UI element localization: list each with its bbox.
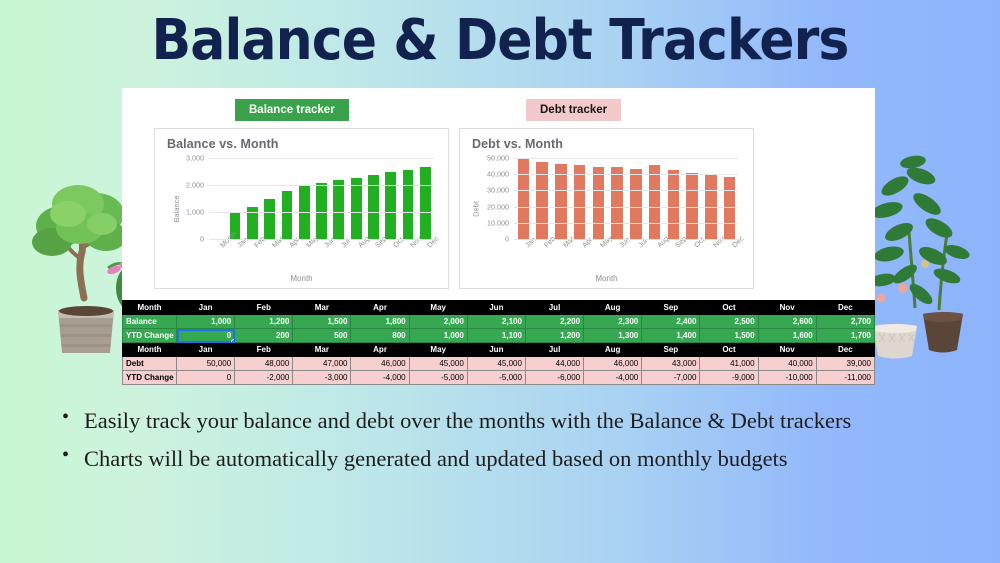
table-cell[interactable]: -4,000 [584, 371, 642, 385]
table-cell[interactable]: 500 [293, 329, 351, 343]
potted-plants-image [869, 148, 994, 360]
table-row[interactable]: MonthJanFebMarAprMayJunJulAugSepOctNovDe… [123, 343, 875, 357]
bar-slot [664, 159, 683, 239]
table-cell[interactable]: Apr [351, 343, 409, 357]
table-cell[interactable]: 800 [351, 329, 409, 343]
bar-slot [570, 159, 589, 239]
balance-bars [209, 159, 434, 239]
table-cell[interactable]: Aug [584, 343, 642, 357]
y-tick-label: 50,000 [487, 154, 509, 163]
bar-slot [226, 159, 243, 239]
table-cell[interactable]: Jul [525, 343, 583, 357]
x-label-slot: Jul [330, 240, 347, 270]
bar [420, 167, 431, 239]
table-cell[interactable]: 2,000 [409, 315, 467, 329]
table-cell[interactable]: 1,400 [642, 329, 700, 343]
table-cell[interactable]: -9,000 [700, 371, 758, 385]
bar-slot [645, 159, 664, 239]
table-cell[interactable]: -6,000 [525, 371, 583, 385]
gridline: 0 [514, 239, 739, 240]
bar [518, 159, 530, 239]
table-cell[interactable]: Sep [642, 343, 700, 357]
gridline: 50,000 [514, 158, 739, 159]
debt-x-tick-labels: JanFebMarAprMayJunJulAugSepOctNovDec [514, 240, 739, 270]
y-tick-label: 2,000 [186, 181, 204, 190]
table-cell[interactable]: 1,800 [351, 315, 409, 329]
bar [668, 170, 680, 239]
row-label-cell[interactable]: Balance [123, 315, 177, 329]
bar-slot [244, 159, 261, 239]
bar [630, 169, 642, 239]
bar-slot [533, 159, 552, 239]
table-cell[interactable]: Apr [351, 301, 409, 315]
table-cell[interactable]: May [409, 343, 467, 357]
table-cell[interactable]: 200 [235, 329, 293, 343]
table-cell[interactable]: 1,100 [467, 329, 525, 343]
x-label-slot: Dec [720, 240, 739, 270]
table-cell[interactable]: 1,700 [816, 329, 874, 343]
x-label-slot: Feb [244, 240, 261, 270]
table-cell[interactable]: Feb [235, 301, 293, 315]
bar [593, 167, 605, 239]
bar-slot [261, 159, 278, 239]
gridline: 3,000 [209, 158, 434, 159]
table-cell[interactable]: Feb [235, 343, 293, 357]
badge-balance-tracker: Balance tracker [235, 99, 349, 121]
table-cell[interactable]: Nov [758, 343, 816, 357]
bar-slot [278, 159, 295, 239]
bar-slot [348, 159, 365, 239]
bar-slot [209, 159, 226, 239]
gridline: 20,000 [514, 207, 739, 208]
x-label-slot: Nov [399, 240, 416, 270]
table-cell[interactable]: 2,400 [642, 315, 700, 329]
bar [264, 199, 275, 239]
table-cell[interactable]: 2,600 [758, 315, 816, 329]
table-cell[interactable]: 1,600 [758, 329, 816, 343]
table-cell[interactable]: 46,000 [351, 357, 409, 371]
badge-debt-tracker: Debt tracker [526, 99, 621, 121]
table-cell[interactable]: Dec [816, 301, 874, 315]
x-label-slot: May [296, 240, 313, 270]
bar [611, 167, 623, 239]
table-cell[interactable]: 2,700 [816, 315, 874, 329]
table-cell[interactable]: -5,000 [409, 371, 467, 385]
x-label-slot: Jun [313, 240, 330, 270]
table-cell[interactable]: -2,000 [235, 371, 293, 385]
y-tick-label: 40,000 [487, 170, 509, 179]
gridline: 0 [209, 239, 434, 240]
x-label-slot: Oct [382, 240, 399, 270]
x-label-slot: Sep [664, 240, 683, 270]
y-tick-label: 20,000 [487, 202, 509, 211]
table-cell[interactable]: Jul [525, 301, 583, 315]
table-cell[interactable]: 0 [177, 371, 235, 385]
bar-slot [417, 159, 434, 239]
bar-slot [608, 159, 627, 239]
table-cell[interactable]: 1,200 [525, 329, 583, 343]
table-cell[interactable]: Jun [467, 343, 525, 357]
x-label-slot: Aug [645, 240, 664, 270]
gridline: 10,000 [514, 223, 739, 224]
tracker-data-table[interactable]: MonthJanFebMarAprMayJunJulAugSepOctNovDe… [122, 300, 875, 385]
y-tick-label: 30,000 [487, 186, 509, 195]
selection-handle-icon[interactable] [231, 339, 235, 343]
table-cell[interactable]: -3,000 [293, 371, 351, 385]
bar [403, 170, 414, 239]
table-cell[interactable]: 50,000 [177, 357, 235, 371]
balance-x-tick-labels: MonthJanFebMarAprMayJunJulAugSepOctNovDe… [209, 240, 434, 270]
table-cell[interactable]: 47,000 [293, 357, 351, 371]
table-row[interactable]: Debt50,00048,00047,00046,00045,00045,000… [123, 357, 875, 371]
bar [316, 183, 327, 239]
table-cell[interactable]: -10,000 [758, 371, 816, 385]
list-item: Charts will be automatically generated a… [58, 440, 948, 478]
bar-slot [702, 159, 721, 239]
gridline: 40,000 [514, 174, 739, 175]
table-cell[interactable]: 40,000 [758, 357, 816, 371]
table-cell[interactable]: 45,000 [467, 357, 525, 371]
x-label-slot: Nov [702, 240, 721, 270]
bar [574, 165, 586, 239]
gridline: 2,000 [209, 185, 434, 186]
table-cell[interactable]: 1,000 [177, 315, 235, 329]
table-cell[interactable]: 41,000 [700, 357, 758, 371]
table-cell[interactable]: Nov [758, 301, 816, 315]
bar-slot [589, 159, 608, 239]
x-label-slot: Jan [226, 240, 243, 270]
table-cell[interactable]: 2,300 [584, 315, 642, 329]
bar-slot [330, 159, 347, 239]
x-label-slot: Aug [348, 240, 365, 270]
row-label-cell[interactable]: Month [123, 343, 177, 357]
table-cell[interactable]: Jan [177, 301, 235, 315]
debt-chart-title: Debt vs. Month [472, 137, 563, 151]
x-label-slot: May [589, 240, 608, 270]
bar-slot [313, 159, 330, 239]
table-row[interactable]: YTD Change0-2,000-3,000-4,000-5,000-5,00… [123, 371, 875, 385]
table-cell[interactable]: 1,200 [235, 315, 293, 329]
table-cell[interactable]: 2,500 [700, 315, 758, 329]
table-cell[interactable]: 45,000 [409, 357, 467, 371]
bar-slot [514, 159, 533, 239]
bar [333, 180, 344, 239]
x-label-slot: Mar [552, 240, 571, 270]
debt-chart-ylabel: Debt [471, 201, 480, 217]
table-cell[interactable]: Oct [700, 343, 758, 357]
x-label-slot: Mar [261, 240, 278, 270]
x-label-slot: Apr [570, 240, 589, 270]
table-cell[interactable]: Aug [584, 301, 642, 315]
bar [385, 172, 396, 239]
table-cell[interactable]: 1,500 [700, 329, 758, 343]
table-cell[interactable]: Sep [642, 301, 700, 315]
bar-slot [365, 159, 382, 239]
x-label-slot: Month [209, 240, 226, 270]
bar-slot [552, 159, 571, 239]
bar [649, 165, 661, 239]
table-cell[interactable]: -5,000 [467, 371, 525, 385]
selected-cell[interactable]: 0 [177, 329, 235, 343]
table-cell[interactable]: 43,000 [642, 357, 700, 371]
x-label-slot: Sep [365, 240, 382, 270]
x-label-slot: Jan [514, 240, 533, 270]
debt-chart-plot: JanFebMarAprMayJunJulAugSepOctNovDec 010… [514, 159, 739, 240]
y-tick-label: 0 [505, 235, 509, 244]
balance-chart-ylabel: Balance [172, 195, 181, 222]
table-cell[interactable]: Jan [177, 343, 235, 357]
table-row[interactable]: MonthJanFebMarAprMayJunJulAugSepOctNovDe… [123, 301, 875, 315]
table-cell[interactable]: 46,000 [584, 357, 642, 371]
bar-slot [296, 159, 313, 239]
table-row[interactable]: Balance1,0001,2001,5001,8002,0002,1002,2… [123, 315, 875, 329]
x-label-slot: Dec [417, 240, 434, 270]
table-cell[interactable]: Oct [700, 301, 758, 315]
bar-slot [399, 159, 416, 239]
table-cell[interactable]: -7,000 [642, 371, 700, 385]
x-label-slot: Jul [627, 240, 646, 270]
balance-chart-title: Balance vs. Month [167, 137, 278, 151]
table-cell[interactable]: Mar [293, 343, 351, 357]
table-cell[interactable]: 44,000 [525, 357, 583, 371]
x-label-slot: Apr [278, 240, 295, 270]
table-cell[interactable]: Dec [816, 343, 874, 357]
bar-slot [627, 159, 646, 239]
bar [282, 191, 293, 239]
y-tick-label: 1,000 [186, 208, 204, 217]
x-label-slot: Feb [533, 240, 552, 270]
row-label-cell[interactable]: Debt [123, 357, 177, 371]
row-label-cell[interactable]: Month [123, 301, 177, 315]
table-cell[interactable]: May [409, 301, 467, 315]
y-tick-label: 10,000 [487, 218, 509, 227]
balance-chart[interactable]: Balance vs. Month Balance MonthJanFebMar… [154, 128, 449, 289]
table-cell[interactable]: 2,200 [525, 315, 583, 329]
balance-chart-xlabel: Month [155, 274, 448, 283]
table-cell[interactable]: 39,000 [816, 357, 874, 371]
table-cell[interactable]: Mar [293, 301, 351, 315]
table-cell[interactable]: Jun [467, 301, 525, 315]
debt-bars [514, 159, 739, 239]
gridline: 30,000 [514, 190, 739, 191]
table-cell[interactable]: 1,500 [293, 315, 351, 329]
bar-slot [683, 159, 702, 239]
list-item: Easily track your balance and debt over … [58, 402, 948, 440]
row-label-cell[interactable]: YTD Change [123, 371, 177, 385]
gridline: 1,000 [209, 212, 434, 213]
table-cell[interactable]: 1,300 [584, 329, 642, 343]
table-cell[interactable]: 48,000 [235, 357, 293, 371]
table-cell[interactable]: 1,000 [409, 329, 467, 343]
bar [724, 177, 736, 239]
bar-slot [382, 159, 399, 239]
x-label-slot: Jun [608, 240, 627, 270]
debt-chart[interactable]: Debt vs. Month Debt JanFebMarAprMayJunJu… [459, 128, 754, 289]
debt-chart-xlabel: Month [460, 274, 753, 283]
bar [351, 178, 362, 239]
row-label-cell[interactable]: YTD Change [123, 329, 177, 343]
bar-slot [720, 159, 739, 239]
y-tick-label: 0 [200, 235, 204, 244]
table-row[interactable]: YTD Change02005008001,0001,1001,2001,300… [123, 329, 875, 343]
table-cell[interactable]: 2,100 [467, 315, 525, 329]
table-cell[interactable]: -11,000 [816, 371, 874, 385]
table-cell[interactable]: -4,000 [351, 371, 409, 385]
page-title: Balance & Debt Trackers [35, 8, 965, 73]
x-label-slot: Oct [683, 240, 702, 270]
y-tick-label: 3,000 [186, 154, 204, 163]
bullet-list: Easily track your balance and debt over … [58, 402, 948, 478]
balance-chart-plot: MonthJanFebMarAprMayJunJulAugSepOctNovDe… [209, 159, 434, 240]
spreadsheet-screenshot-panel: Balance tracker Debt tracker Balance vs.… [122, 88, 875, 301]
